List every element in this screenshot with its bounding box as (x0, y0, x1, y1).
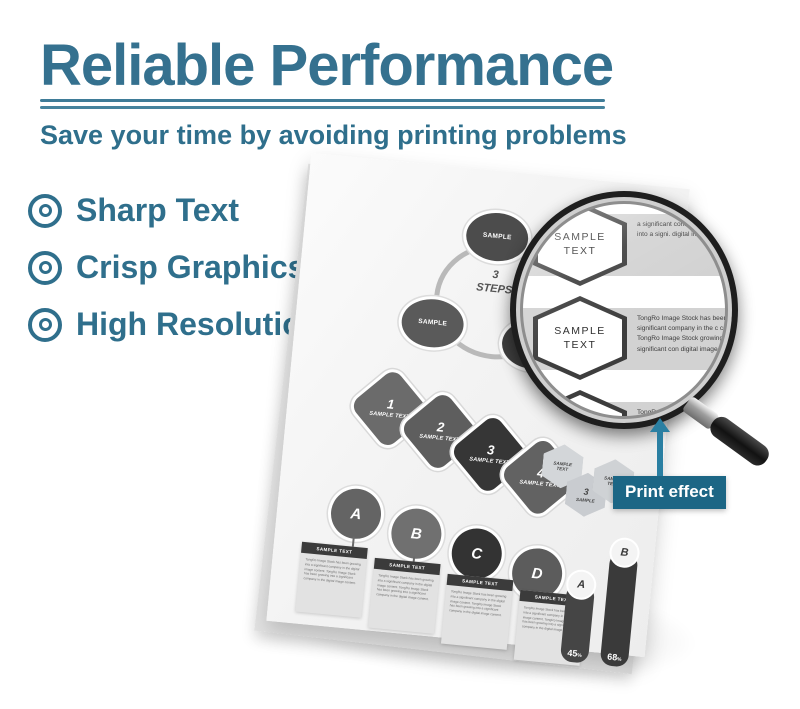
double-circle-bullet-icon (28, 194, 62, 228)
magnified-paragraph: a significant content. TongRo growing in… (637, 220, 733, 240)
text-card-body: TongRo Image Stock has been growing into… (371, 569, 440, 607)
bar-a-value-unit: % (577, 653, 582, 659)
bar-a-value: 45% (560, 647, 589, 660)
step-number: 3 (486, 443, 495, 459)
bar-b: B 68% (600, 551, 639, 667)
mini-hexagon-label: SAMPLE (576, 497, 595, 504)
bar-b-cap-label: B (610, 539, 638, 567)
status-badge: Print effect (613, 476, 726, 509)
print-effect-callout: Print effect (613, 476, 726, 509)
list-item-label: Sharp Text (76, 192, 239, 229)
page-title: Reliable Performance (40, 36, 613, 97)
magnified-hexagon-line2: TEXT (564, 244, 597, 258)
page-subtitle: Save your time by avoiding printing prob… (40, 120, 627, 151)
magnified-hexagon-line1: SAMPLE (554, 418, 606, 424)
cycle-node-label: SAMPLE (418, 318, 448, 329)
magnified-paragraph: TongRo Image Stock has been a significan… (637, 314, 733, 355)
magnified-hexagon-line2: TEXT (564, 338, 597, 352)
text-card: SAMPLE TEXT TongRo Image Stock has been … (295, 542, 367, 618)
cycle-node-label: SAMPLE (482, 231, 512, 242)
magnified-hexagon: SAMPLE TEXT (533, 390, 627, 424)
bar-b-value: 68% (600, 651, 629, 664)
text-card-body: TongRo Image Stock has been growing into… (444, 585, 513, 623)
magnifying-glass-icon: a significant content. TongRo growing in… (515, 196, 745, 448)
text-card: SAMPLE TEXT TongRo Image Stock has been … (441, 574, 513, 650)
mini-hexagon-sublabel: TEXT (556, 466, 568, 472)
double-circle-bullet-icon (28, 251, 62, 285)
step-label: SAMPLE TEXT (369, 411, 410, 421)
step-number: 2 (436, 421, 445, 437)
magnified-hexagon-line1: SAMPLE (554, 230, 606, 244)
title-underline-top (40, 99, 605, 102)
text-card: SAMPLE TEXT TongRo Image Stock has been … (368, 558, 440, 634)
step-label: SAMPLE TEXT (419, 434, 460, 444)
mini-hexagon-number: 3 (583, 486, 589, 497)
up-arrow-icon (657, 430, 663, 476)
title-underline-bottom (40, 106, 605, 109)
letter-circle: A (329, 487, 384, 542)
step-number: 1 (386, 398, 395, 414)
bar-chart: A 45% B 68% (555, 531, 658, 674)
bar-a-cap-label: A (567, 571, 595, 599)
bar-b-value-unit: % (617, 657, 622, 663)
poster-canvas: Reliable Performance Save your time by a… (0, 0, 800, 709)
magnified-hexagon-line1: SAMPLE (554, 324, 606, 338)
step-label: SAMPLE TEXT (469, 457, 510, 467)
text-card-body: TongRo Image Stock has been growing into… (298, 553, 367, 591)
magnified-content: a significant content. TongRo growing in… (515, 196, 733, 424)
bar-a: A 45% (560, 583, 595, 663)
double-circle-bullet-icon (28, 308, 62, 342)
magnifier-lens: a significant content. TongRo growing in… (515, 196, 733, 424)
